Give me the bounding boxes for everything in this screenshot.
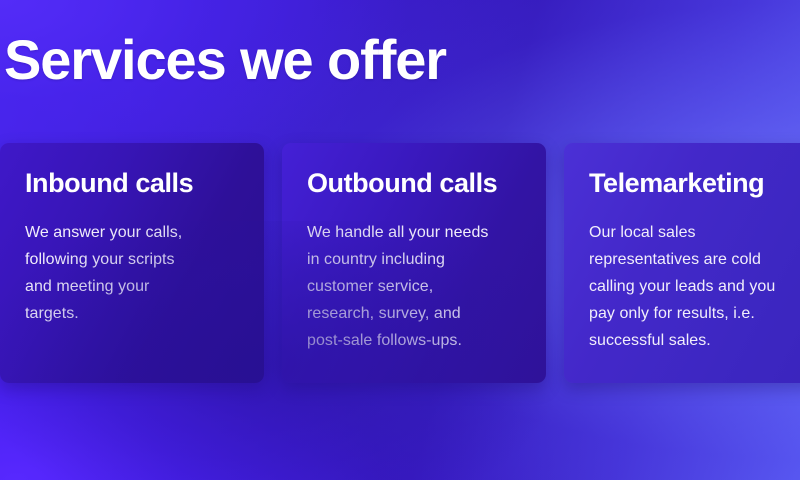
service-card-description: We handle all your needs in country incl… [307,219,522,354]
service-card-title: Outbound calls [307,168,522,199]
page-title: Services we offer [4,26,446,94]
service-card-outbound-calls[interactable]: Outbound calls We handle all your needs … [282,143,546,383]
service-card-telemarketing[interactable]: Telemarketing Our local sales representa… [564,143,800,383]
service-card-title: Telemarketing [589,168,800,199]
service-card-title: Inbound calls [25,168,240,199]
services-section: Services we offer Inbound calls We answe… [0,0,800,480]
service-card-description: Our local sales representatives are cold… [589,219,800,354]
service-card-description: We answer your calls, following your scr… [25,219,240,327]
service-card-row: Inbound calls We answer your calls, foll… [0,143,800,383]
service-card-inbound-calls[interactable]: Inbound calls We answer your calls, foll… [0,143,264,383]
